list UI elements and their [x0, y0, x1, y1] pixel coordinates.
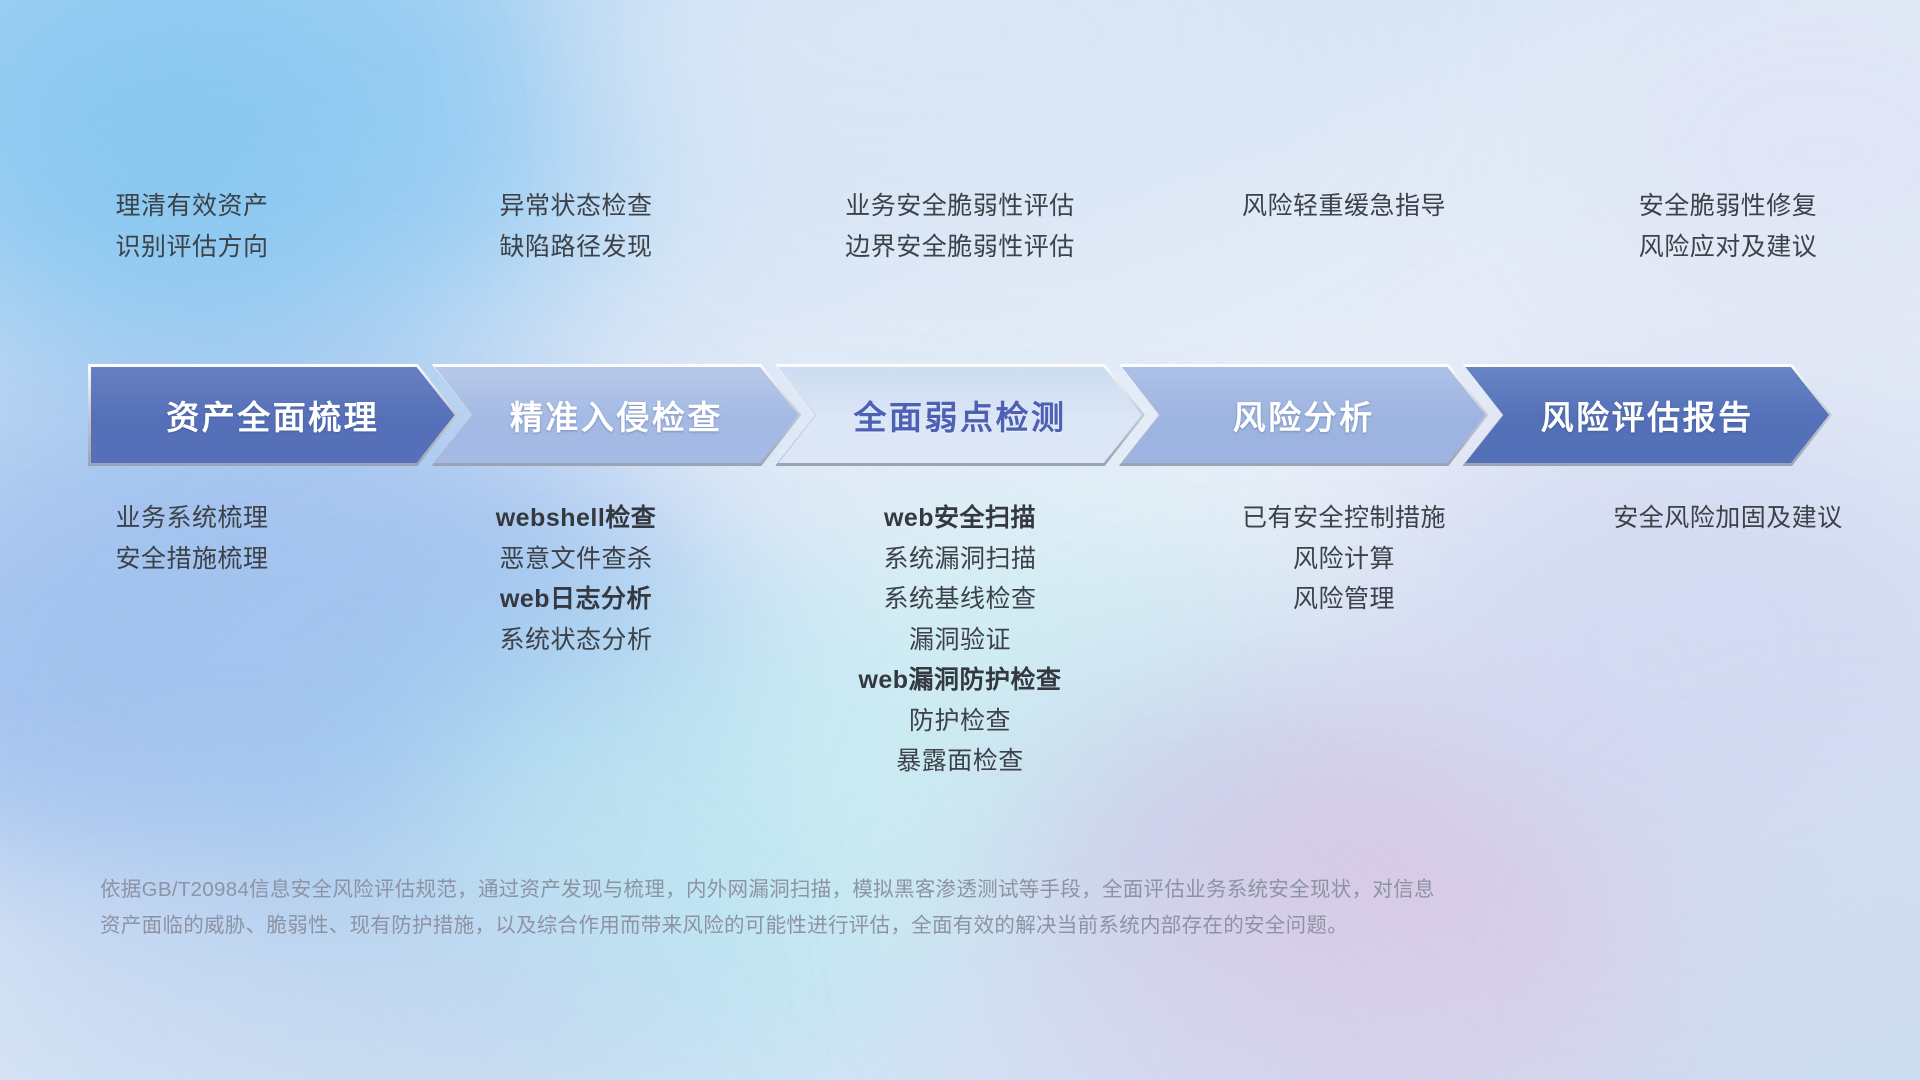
- process-step-label: 全面弱点检测: [853, 391, 1066, 439]
- top-label-item: 业务安全脆弱性评估: [845, 186, 1075, 227]
- bottom-label-item: 系统基线检查: [883, 579, 1036, 620]
- top-label-item: 风险应对及建议: [1639, 227, 1818, 268]
- bottom-label-item: webshell检查: [496, 498, 657, 539]
- bottom-label-column: webshell检查恶意文件查杀web日志分析系统状态分析: [384, 498, 768, 782]
- bottom-label-item: 暴露面检查: [896, 741, 1024, 782]
- footer-description: 依据GB/T20984信息安全风险评估规范，通过资产发现与梳理，内外网漏洞扫描，…: [100, 872, 1820, 945]
- top-label-column: 安全脆弱性修复风险应对及建议: [1536, 186, 1920, 267]
- top-label-column: 异常状态检查缺陷路径发现: [384, 186, 768, 267]
- top-label-item: 缺陷路径发现: [499, 227, 652, 268]
- bottom-label-column: 业务系统梳理安全措施梳理: [0, 498, 384, 782]
- top-label-column: 理清有效资产识别评估方向: [0, 186, 384, 267]
- process-step-2[interactable]: 精准入侵检查: [432, 364, 802, 466]
- bottom-label-column: 安全风险加固及建议: [1536, 498, 1920, 782]
- top-label-item: 安全脆弱性修复: [1639, 186, 1818, 227]
- bottom-label-item: 系统漏洞扫描: [883, 539, 1036, 580]
- process-step-label: 精准入侵检查: [510, 391, 723, 439]
- bottom-label-item: 系统状态分析: [499, 620, 652, 661]
- footer-line-2: 资产面临的威胁、脆弱性、现有防护措施，以及综合作用而带来风险的可能性进行评估，全…: [100, 908, 1820, 944]
- top-label-item: 识别评估方向: [115, 227, 268, 268]
- process-step-label: 风险分析: [1233, 391, 1375, 439]
- top-label-item: 边界安全脆弱性评估: [845, 227, 1075, 268]
- bottom-label-item: 安全措施梳理: [115, 539, 268, 580]
- footer-line-1: 依据GB/T20984信息安全风险评估规范，通过资产发现与梳理，内外网漏洞扫描，…: [100, 872, 1820, 908]
- process-step-1[interactable]: 资产全面梳理: [88, 364, 458, 466]
- top-label-item: 理清有效资产: [115, 186, 268, 227]
- process-step-4[interactable]: 风险分析: [1119, 364, 1489, 466]
- bottom-label-item: web日志分析: [500, 579, 652, 620]
- top-label-column: 风险轻重缓急指导: [1152, 186, 1536, 267]
- process-step-label: 资产全面梳理: [166, 391, 379, 439]
- bottom-label-item: 已有安全控制措施: [1242, 498, 1446, 539]
- bottom-label-item: 恶意文件查杀: [499, 539, 652, 580]
- top-label-row: 理清有效资产识别评估方向异常状态检查缺陷路径发现业务安全脆弱性评估边界安全脆弱性…: [0, 186, 1920, 267]
- bottom-label-item: 风险计算: [1293, 539, 1395, 580]
- bottom-label-item: 风险管理: [1293, 579, 1395, 620]
- bottom-label-item: web漏洞防护检查: [858, 660, 1061, 701]
- process-chevron-banner: 资产全面梳理精准入侵检查全面弱点检测风险分析风险评估报告: [88, 364, 1832, 466]
- top-label-item: 异常状态检查: [499, 186, 652, 227]
- bottom-label-item: 安全风险加固及建议: [1613, 498, 1843, 539]
- top-label-column: 业务安全脆弱性评估边界安全脆弱性评估: [768, 186, 1152, 267]
- process-step-3[interactable]: 全面弱点检测: [775, 364, 1145, 466]
- bottom-label-column: 已有安全控制措施风险计算风险管理: [1152, 498, 1536, 782]
- process-step-label: 风险评估报告: [1541, 391, 1754, 439]
- bottom-label-item: 漏洞验证: [909, 620, 1011, 661]
- process-step-5[interactable]: 风险评估报告: [1462, 364, 1832, 466]
- bottom-label-item: web安全扫描: [884, 498, 1036, 539]
- top-label-item: 风险轻重缓急指导: [1242, 186, 1446, 227]
- bottom-label-item: 业务系统梳理: [115, 498, 268, 539]
- bottom-label-item: 防护检查: [909, 701, 1011, 742]
- bottom-label-row: 业务系统梳理安全措施梳理webshell检查恶意文件查杀web日志分析系统状态分…: [0, 498, 1920, 782]
- bottom-label-column: web安全扫描系统漏洞扫描系统基线检查漏洞验证web漏洞防护检查防护检查暴露面检…: [768, 498, 1152, 782]
- process-diagram: 理清有效资产识别评估方向异常状态检查缺陷路径发现业务安全脆弱性评估边界安全脆弱性…: [0, 0, 1920, 1080]
